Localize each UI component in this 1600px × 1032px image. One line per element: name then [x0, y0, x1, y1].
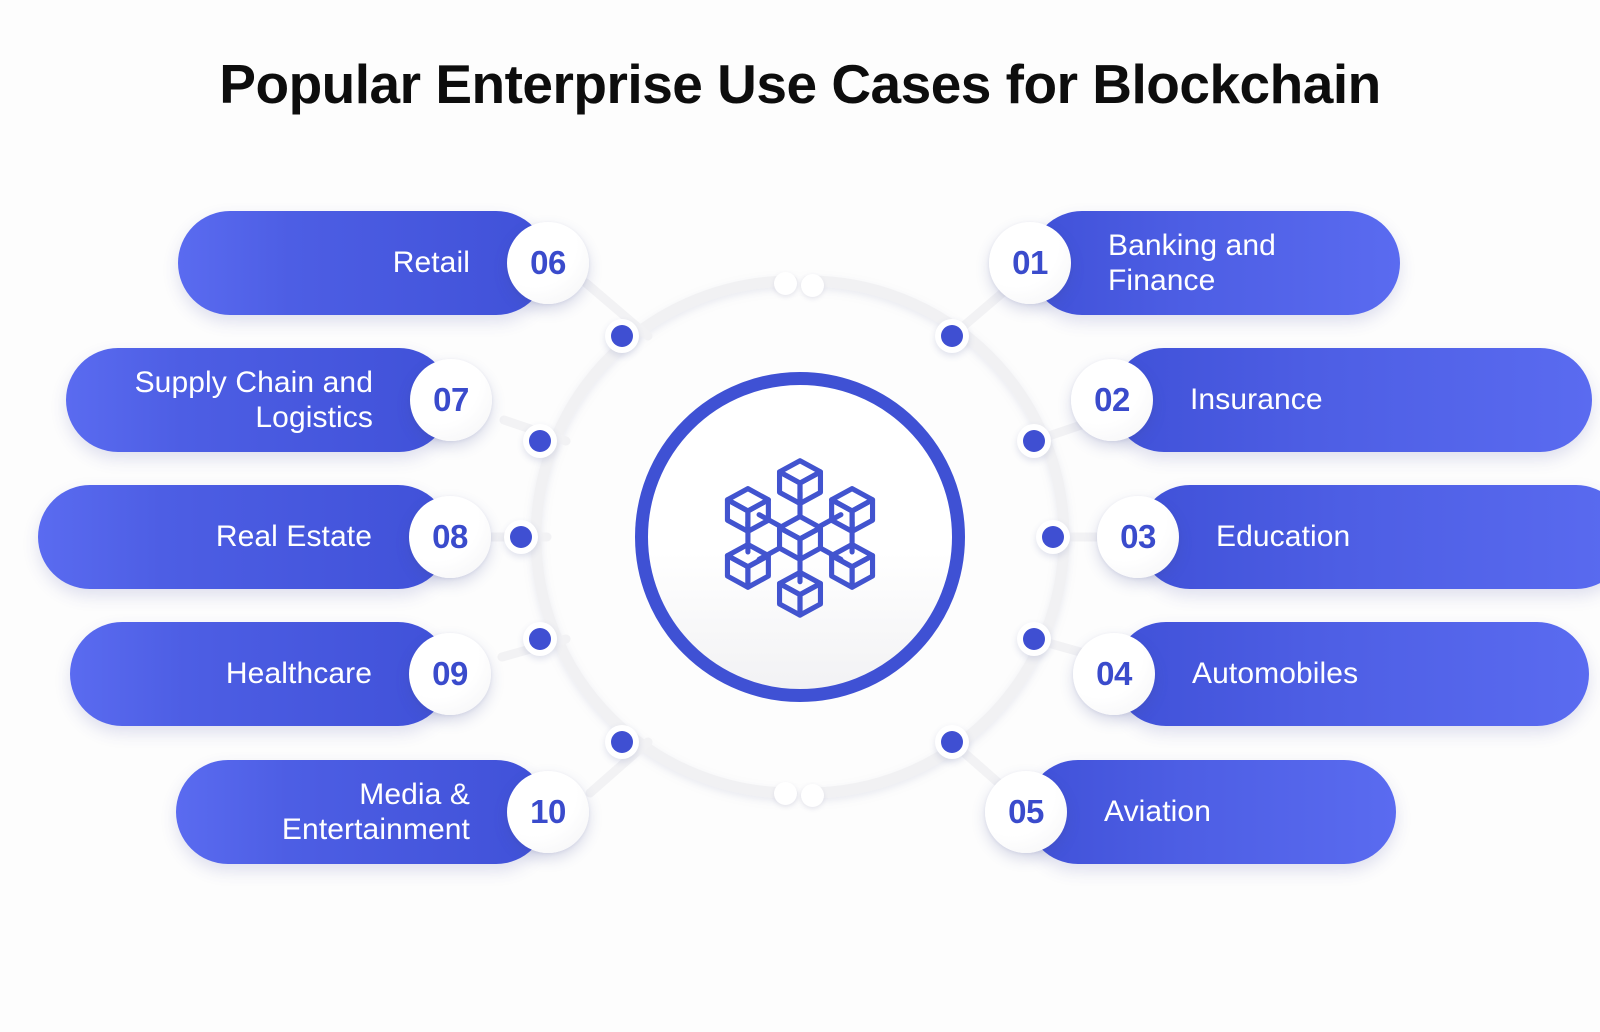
use-case-badge-09: 09	[409, 633, 491, 715]
use-case-row-09[interactable]: Healthcare 09	[70, 622, 450, 726]
use-case-pill-07[interactable]: Supply Chain and Logistics 07	[66, 348, 451, 452]
ring-nub-bottom-right	[801, 784, 824, 807]
use-case-badge-02: 02	[1071, 359, 1153, 441]
ring-node-05	[935, 725, 969, 759]
use-case-badge-04: 04	[1073, 633, 1155, 715]
use-case-number-03: 03	[1120, 518, 1156, 556]
use-case-pill-06[interactable]: Retail 06	[178, 211, 548, 315]
use-case-row-06[interactable]: Retail 06	[178, 211, 548, 315]
use-case-pill-04[interactable]: 04 Automobiles	[1114, 622, 1589, 726]
use-case-pill-01[interactable]: 01 Banking and Finance	[1030, 211, 1400, 315]
use-case-badge-03: 03	[1097, 496, 1179, 578]
blockchain-cubes-icon	[707, 444, 893, 630]
use-case-row-07[interactable]: Supply Chain and Logistics 07	[66, 348, 451, 452]
use-case-badge-06: 06	[507, 222, 589, 304]
use-case-row-10[interactable]: Media & Entertainment 10	[176, 760, 548, 864]
ring-node-08	[504, 520, 538, 554]
ring-node-04	[1017, 622, 1051, 656]
use-case-row-01[interactable]: 01 Banking and Finance	[1030, 211, 1400, 315]
use-case-number-05: 05	[1008, 793, 1044, 831]
use-case-number-01: 01	[1012, 244, 1048, 282]
use-case-number-10: 10	[530, 793, 566, 831]
use-case-number-09: 09	[432, 655, 468, 693]
use-case-pill-03[interactable]: 03 Education	[1138, 485, 1600, 589]
use-case-number-04: 04	[1096, 655, 1132, 693]
ring-nub-top-left	[774, 272, 797, 295]
ring-node-03	[1036, 520, 1070, 554]
use-case-label-04: Automobiles	[1192, 656, 1358, 691]
ring-node-07	[523, 424, 557, 458]
ring-node-06	[605, 319, 639, 353]
use-case-label-10: Media & Entertainment	[282, 777, 470, 848]
use-case-badge-05: 05	[985, 771, 1067, 853]
use-case-number-02: 02	[1094, 381, 1130, 419]
use-case-number-07: 07	[433, 381, 469, 419]
ring-nub-top-right	[801, 274, 824, 297]
ring-node-01	[935, 319, 969, 353]
use-case-row-02[interactable]: 02 Insurance	[1112, 348, 1592, 452]
use-case-label-08: Real Estate	[216, 519, 372, 554]
use-case-label-06: Retail	[393, 245, 470, 280]
use-case-badge-01: 01	[989, 222, 1071, 304]
ring-node-10	[605, 725, 639, 759]
ring-nub-bottom-left	[774, 782, 797, 805]
use-case-label-09: Healthcare	[226, 656, 372, 691]
use-case-row-08[interactable]: Real Estate 08	[38, 485, 450, 589]
use-case-label-07: Supply Chain and Logistics	[135, 365, 373, 436]
ring-node-02	[1017, 424, 1051, 458]
use-case-number-08: 08	[432, 518, 468, 556]
use-case-number-06: 06	[530, 244, 566, 282]
use-case-pill-05[interactable]: 05 Aviation	[1026, 760, 1396, 864]
infographic-stage: 01 Banking and Finance 02 Insurance 03 E…	[0, 0, 1600, 1032]
use-case-badge-08: 08	[409, 496, 491, 578]
use-case-label-01: Banking and Finance	[1108, 228, 1366, 299]
use-case-label-03: Education	[1216, 519, 1350, 554]
use-case-row-04[interactable]: 04 Automobiles	[1114, 622, 1589, 726]
use-case-badge-07: 07	[410, 359, 492, 441]
use-case-row-03[interactable]: 03 Education	[1138, 485, 1600, 589]
use-case-pill-09[interactable]: Healthcare 09	[70, 622, 450, 726]
use-case-pill-02[interactable]: 02 Insurance	[1112, 348, 1592, 452]
use-case-label-05: Aviation	[1104, 794, 1211, 829]
use-case-pill-08[interactable]: Real Estate 08	[38, 485, 450, 589]
use-case-pill-10[interactable]: Media & Entertainment 10	[176, 760, 548, 864]
ring-node-09	[523, 622, 557, 656]
use-case-badge-10: 10	[507, 771, 589, 853]
use-case-label-02: Insurance	[1190, 382, 1323, 417]
use-case-row-05[interactable]: 05 Aviation	[1026, 760, 1396, 864]
center-hub	[635, 372, 965, 702]
